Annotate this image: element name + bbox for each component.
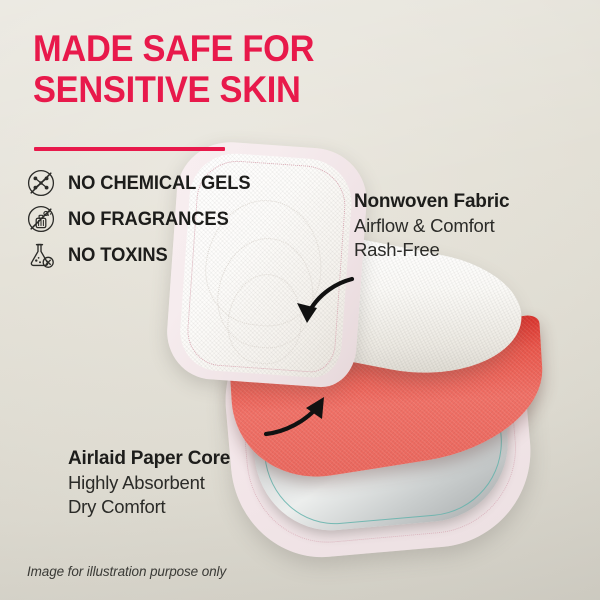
callout-line-2: Dry Comfort bbox=[68, 495, 298, 519]
callout-title: Nonwoven Fabric bbox=[354, 190, 584, 214]
callout-nonwoven-fabric: Nonwoven Fabric Airflow & Comfort Rash-F… bbox=[354, 190, 584, 262]
benefit-item-no-fragrances: NO FRAGRANCES bbox=[26, 204, 296, 235]
callout-title: Airlaid Paper Core bbox=[68, 447, 298, 471]
benefit-item-no-chemical-gels: NO CHEMICAL GELS bbox=[26, 168, 296, 199]
benefit-label: NO CHEMICAL GELS bbox=[68, 172, 250, 194]
page-title: MADE SAFE FOR SENSITIVE SKIN bbox=[33, 28, 424, 110]
no-fragrances-icon bbox=[26, 204, 56, 234]
benefit-label: NO TOXINS bbox=[68, 244, 168, 266]
callout-airlaid-paper-core: Airlaid Paper Core Highly Absorbent Dry … bbox=[68, 447, 298, 519]
callout-line-2: Rash-Free bbox=[354, 238, 584, 262]
benefit-item-no-toxins: NO TOXINS bbox=[26, 240, 296, 271]
arrow-to-paper-core-icon bbox=[262, 388, 348, 440]
benefit-label: NO FRAGRANCES bbox=[68, 208, 229, 230]
title-divider bbox=[34, 147, 225, 151]
disclaimer-text: Image for illustration purpose only bbox=[27, 564, 226, 579]
arrow-to-nonwoven-icon bbox=[282, 276, 356, 334]
infographic-canvas: MADE SAFE FOR SENSITIVE SKIN NO C bbox=[0, 0, 600, 600]
no-toxins-icon bbox=[26, 240, 56, 270]
benefits-list: NO CHEMICAL GELS bbox=[26, 168, 296, 276]
no-chemical-gels-icon bbox=[26, 168, 56, 198]
callout-line-1: Airflow & Comfort bbox=[354, 214, 584, 238]
callout-line-1: Highly Absorbent bbox=[68, 471, 298, 495]
